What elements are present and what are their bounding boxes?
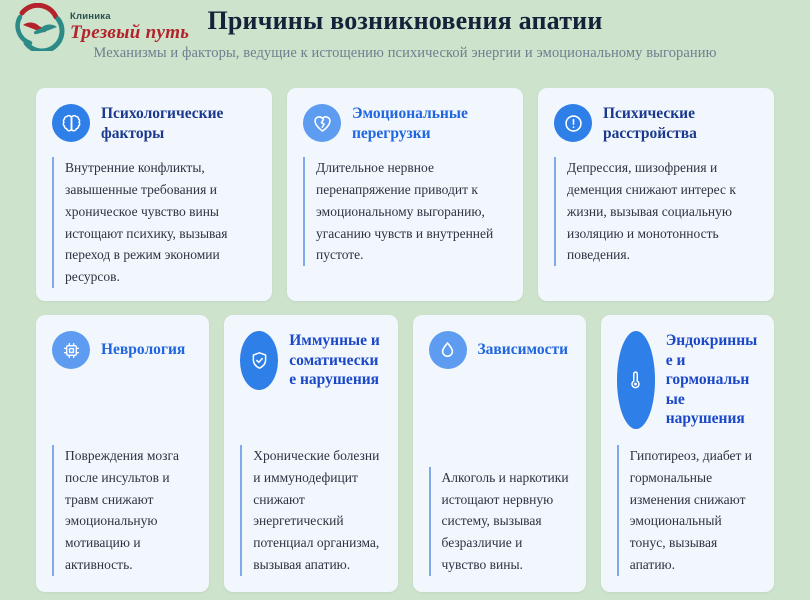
card-title: Психологические факторы	[101, 104, 256, 143]
infographic-page: Клиника Трезвый путь Причины возникновен…	[0, 0, 810, 600]
card-psychological-factors[interactable]: Психологические факторы Внутренние конфл…	[36, 88, 272, 301]
card-header: Психологические факторы	[52, 104, 256, 143]
clinic-hands-emblem-icon	[12, 3, 68, 51]
water-drop-icon	[429, 331, 467, 369]
card-immune-somatic[interactable]: Иммунные и соматические нарушения Хронич…	[224, 315, 397, 592]
exclamation-circle-icon	[554, 104, 592, 142]
card-description: Внутренние конфликты, завышенные требова…	[52, 157, 256, 288]
card-row-2: Неврология Повреждения мозга после инсул…	[0, 315, 810, 592]
card-title: Неврология	[101, 340, 185, 360]
card-description: Алкоголь и наркотики истощают нервную си…	[429, 467, 570, 576]
card-mental-disorders[interactable]: Психические расстройства Депрессия, шизо…	[538, 88, 774, 301]
card-title: Психические расстройства	[603, 104, 758, 143]
card-header: Эндокринные и гормональные нарушения	[617, 331, 758, 429]
card-title: Эндокринные и гормональные нарушения	[666, 331, 758, 429]
shield-check-icon	[240, 331, 278, 390]
card-title: Эмоциональные перегрузки	[352, 104, 507, 143]
card-description: Повреждения мозга после инсультов и трав…	[52, 445, 193, 576]
card-description: Длительное нервное перенапряжение привод…	[303, 157, 507, 266]
card-header: Зависимости	[429, 331, 570, 369]
card-title: Зависимости	[478, 340, 569, 360]
card-header: Психические расстройства	[554, 104, 758, 143]
card-row-1: Психологические факторы Внутренние конфл…	[0, 88, 810, 301]
card-description: Гипотиреоз, диабет и гормональные измене…	[617, 445, 758, 576]
card-endocrine-hormonal[interactable]: Эндокринные и гормональные нарушения Гип…	[601, 315, 774, 592]
card-description: Хронические болезни и иммунодефицит сниж…	[240, 445, 381, 576]
card-title: Иммунные и соматические нарушения	[289, 331, 381, 390]
clinic-logo-text: Клиника Трезвый путь	[70, 12, 189, 42]
microchip-icon	[52, 331, 90, 369]
clinic-logo-name: Трезвый путь	[70, 23, 189, 42]
card-emotional-overload[interactable]: Эмоциональные перегрузки Длительное нерв…	[287, 88, 523, 301]
clinic-logo-eyebrow: Клиника	[70, 12, 189, 22]
brain-icon	[52, 104, 90, 142]
card-addictions[interactable]: Зависимости Алкоголь и наркотики истощаю…	[413, 315, 586, 592]
card-header: Эмоциональные перегрузки	[303, 104, 507, 143]
broken-heart-icon	[303, 104, 341, 142]
clinic-logo: Клиника Трезвый путь	[12, 2, 212, 52]
page-header: Клиника Трезвый путь Причины возникновен…	[0, 0, 810, 88]
card-header: Неврология	[52, 331, 193, 369]
thermometer-icon	[617, 331, 655, 429]
card-header: Иммунные и соматические нарушения	[240, 331, 381, 390]
card-neurology[interactable]: Неврология Повреждения мозга после инсул…	[36, 315, 209, 592]
card-description: Депрессия, шизофрения и деменция снижают…	[554, 157, 758, 266]
